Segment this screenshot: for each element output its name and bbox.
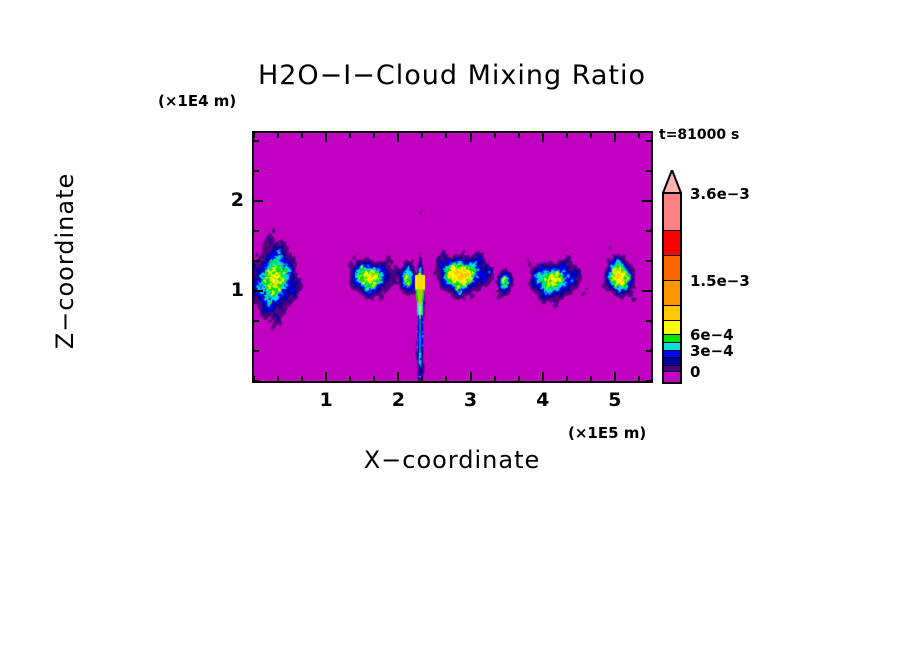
y-tick xyxy=(254,230,259,232)
y-tick-right xyxy=(646,230,651,232)
colorbar-tick-label: 0 xyxy=(690,363,700,381)
timestamp-annotation: t=81000 s xyxy=(659,127,739,143)
colorbar-band xyxy=(664,231,680,256)
x-tick-label: 1 xyxy=(306,389,346,411)
x-tick xyxy=(397,372,399,381)
y-tick-right xyxy=(646,320,651,322)
x-tick-label: 4 xyxy=(523,389,563,411)
x-tick xyxy=(494,376,496,381)
x-tick-top xyxy=(542,133,544,142)
x-tick-top xyxy=(301,133,303,138)
y-tick xyxy=(254,290,263,292)
x-tick xyxy=(566,376,568,381)
x-tick xyxy=(638,376,640,381)
colorbar-band xyxy=(664,281,680,306)
colorbar-tick-label: 3.6e−3 xyxy=(690,185,750,203)
x-tick-top xyxy=(518,133,520,138)
x-tick-top xyxy=(325,133,327,142)
y-tick xyxy=(254,200,263,202)
x-tick-top xyxy=(614,133,616,142)
colorbar-arrow-svg xyxy=(662,170,682,194)
x-tick xyxy=(445,376,447,381)
y-tick xyxy=(254,260,259,262)
y-tick xyxy=(254,320,259,322)
x-axis-unit-label: (×1E5 m) xyxy=(568,424,646,442)
colorbar-bands xyxy=(662,192,682,384)
contour-field xyxy=(254,133,651,381)
y-tick-label: 2 xyxy=(204,189,244,211)
x-tick xyxy=(614,372,616,381)
y-tick xyxy=(254,140,259,142)
y-tick xyxy=(254,170,259,172)
x-tick-top xyxy=(590,133,592,138)
x-tick-top xyxy=(349,133,351,138)
figure-canvas: H2O−I−Cloud Mixing Ratio (×1E4 m) (×1E5 … xyxy=(0,0,904,654)
x-tick xyxy=(277,376,279,381)
y-tick-right xyxy=(646,170,651,172)
x-tick-top xyxy=(421,133,423,138)
y-tick-right xyxy=(646,350,651,352)
y-tick-right xyxy=(642,200,651,202)
colorbar-band xyxy=(664,372,680,382)
y-tick-right xyxy=(646,260,651,262)
y-tick-right xyxy=(646,380,651,382)
colorbar-tick-label: 1.5e−3 xyxy=(690,272,750,290)
x-tick xyxy=(470,372,472,381)
figure-title: H2O−I−Cloud Mixing Ratio xyxy=(0,60,904,91)
x-tick xyxy=(373,376,375,381)
x-tick xyxy=(301,376,303,381)
x-tick xyxy=(349,376,351,381)
x-tick-top xyxy=(373,133,375,138)
colorbar-tick-label: 3e−4 xyxy=(690,342,734,360)
x-tick xyxy=(590,376,592,381)
y-tick xyxy=(254,350,259,352)
y-tick-right xyxy=(646,140,651,142)
y-tick-right xyxy=(642,290,651,292)
colorbar-band xyxy=(664,194,680,231)
x-tick-top xyxy=(445,133,447,138)
x-tick-label: 2 xyxy=(378,389,418,411)
x-axis-title: X−coordinate xyxy=(0,446,904,474)
y-axis-title: Z−coordinate xyxy=(51,111,79,411)
x-tick-top xyxy=(277,133,279,138)
x-tick-top xyxy=(494,133,496,138)
y-axis-unit-label: (×1E4 m) xyxy=(158,92,236,110)
x-tick-top xyxy=(566,133,568,138)
x-tick-top xyxy=(470,133,472,142)
colorbar-band xyxy=(664,321,680,335)
y-tick-label: 1 xyxy=(204,279,244,301)
x-tick-label: 5 xyxy=(595,389,635,411)
x-tick xyxy=(325,372,327,381)
x-tick xyxy=(518,376,520,381)
x-tick-top xyxy=(638,133,640,138)
colorbar-band xyxy=(664,256,680,281)
colorbar-arrow-icon xyxy=(662,170,682,194)
colorbar-band xyxy=(664,306,680,321)
x-tick-top xyxy=(397,133,399,142)
x-tick xyxy=(542,372,544,381)
x-tick-top xyxy=(253,133,255,138)
y-tick xyxy=(254,380,259,382)
x-tick xyxy=(421,376,423,381)
contour-plot-area xyxy=(252,131,653,383)
colorbar xyxy=(662,170,682,384)
x-tick-label: 3 xyxy=(451,389,491,411)
